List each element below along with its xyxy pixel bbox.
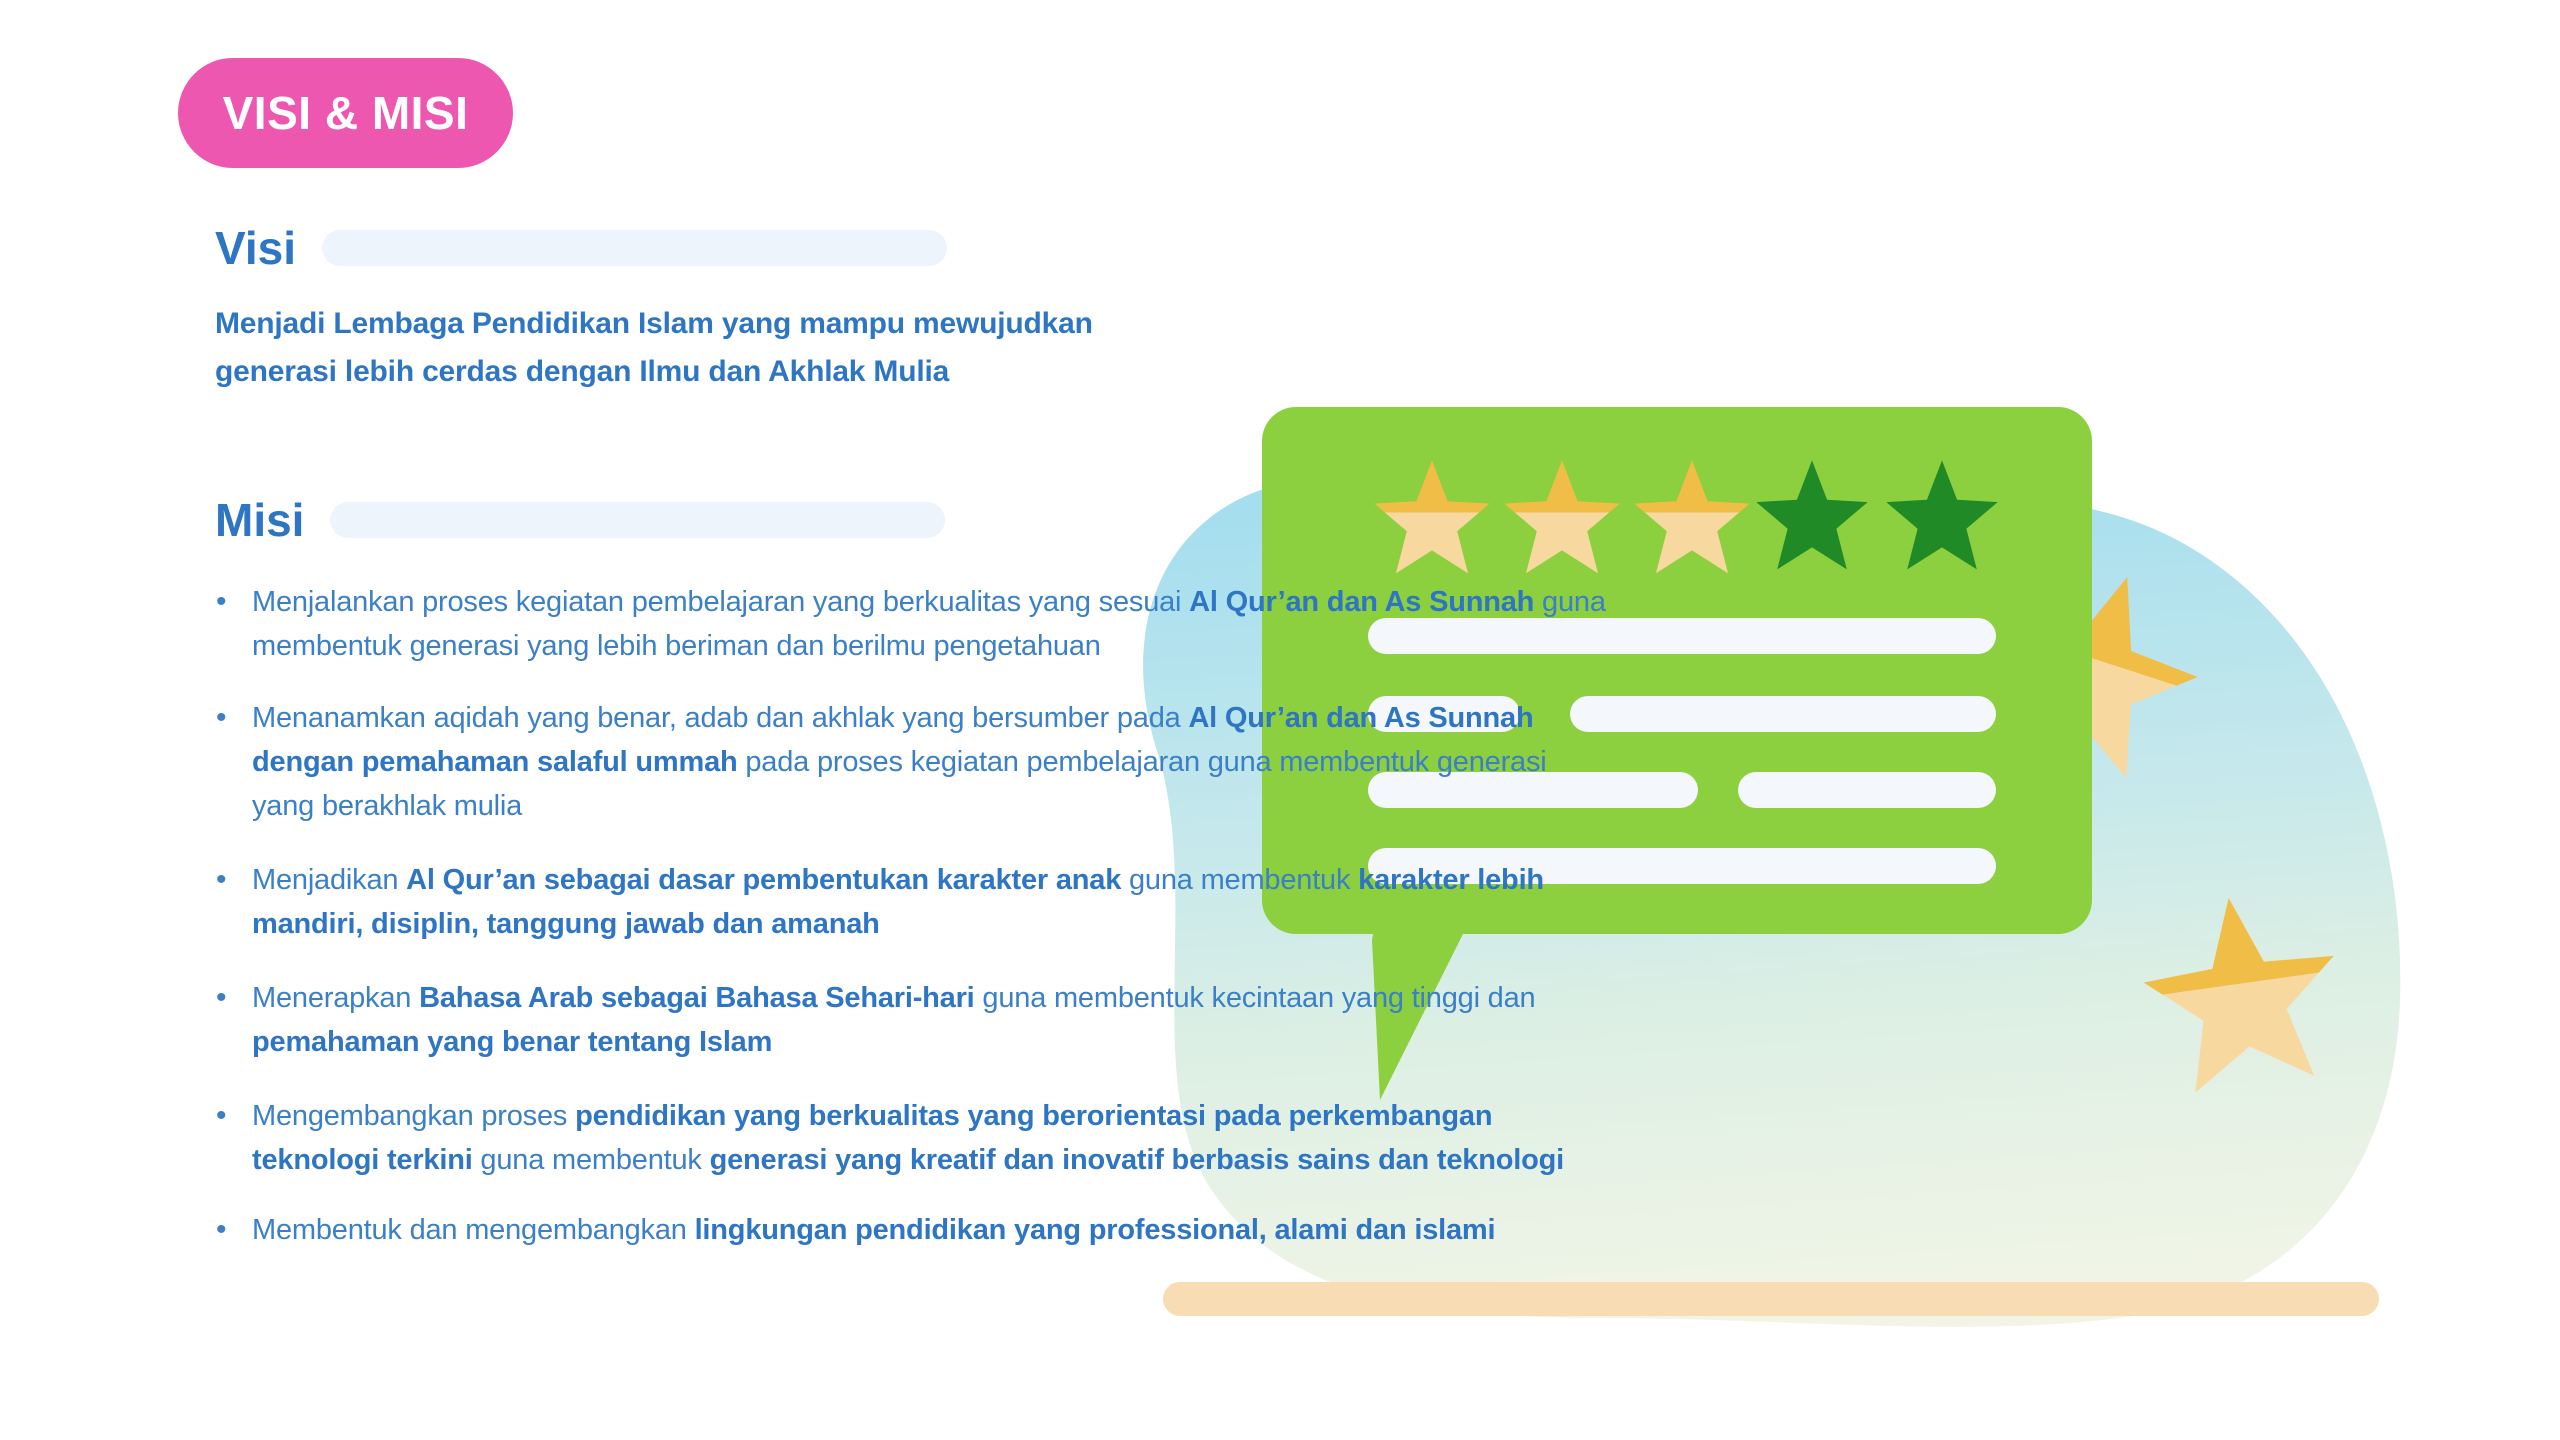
floating-star-1: [1975, 547, 2221, 790]
rating-star-1: [1374, 460, 1489, 573]
misi-emphasis-text: pemahaman yang benar tentang Islam: [252, 1026, 772, 1058]
misi-plain-text: guna membentuk kecintaan yang tinggi dan: [975, 982, 1536, 1014]
misi-plain-text: Mengembangkan proses: [252, 1100, 575, 1132]
visi-body-text: Menjadi Lembaga Pendidikan Islam yang ma…: [215, 300, 1115, 396]
misi-plain-text: guna membentuk: [1121, 864, 1358, 896]
visi-heading-bar: [322, 230, 947, 266]
misi-emphasis-text: Bahasa Arab sebagai Bahasa Sehari-hari: [419, 982, 974, 1014]
misi-list-item: •Menanamkan aqidah yang benar, adab dan …: [210, 696, 1610, 828]
bullet-icon: •: [216, 1208, 226, 1252]
misi-list: •Menjalankan proses kegiatan pembelajara…: [210, 580, 1610, 1252]
misi-heading-bar: [330, 502, 945, 538]
bullet-icon: •: [216, 1094, 226, 1138]
bullet-icon: •: [216, 858, 226, 902]
misi-emphasis-text: Al Qur’an sebagai dasar pembentukan kara…: [406, 864, 1121, 896]
misi-emphasis-text: generasi yang kreatif dan inovatif berba…: [710, 1144, 1564, 1176]
rating-star-2: [1504, 460, 1619, 573]
bullet-icon: •: [216, 976, 226, 1020]
section-heading-misi: Misi: [215, 497, 945, 543]
ground-bar: [1163, 1282, 2379, 1316]
misi-list-item: •Menjadikan Al Qur’an sebagai dasar pemb…: [210, 858, 1610, 946]
misi-list-item: •Menjalankan proses kegiatan pembelajara…: [210, 580, 1610, 668]
misi-emphasis-text: lingkungan pendidikan yang professional,…: [695, 1214, 1496, 1246]
misi-plain-text: Membentuk dan mengembangkan: [252, 1214, 695, 1246]
misi-plain-text: Menanamkan aqidah yang benar, adab dan a…: [252, 702, 1188, 734]
misi-list-item: •Mengembangkan proses pendidikan yang be…: [210, 1094, 1610, 1182]
misi-plain-text: Menerapkan: [252, 982, 419, 1014]
rating-star-5: [1886, 460, 1997, 569]
visi-misi-badge[interactable]: VISI & MISI: [178, 58, 513, 168]
rating-star-3: [1634, 460, 1749, 573]
bullet-icon: •: [216, 580, 226, 624]
rating-star-4: [1756, 460, 1867, 569]
misi-emphasis-text: Al Qur’an dan As Sunnah: [1189, 586, 1534, 618]
misi-plain-text: guna membentuk: [473, 1144, 710, 1176]
misi-plain-text: Menjadikan: [252, 864, 406, 896]
badge-label: VISI & MISI: [223, 86, 469, 140]
misi-heading-label: Misi: [215, 497, 304, 543]
section-heading-visi: Visi: [215, 225, 947, 271]
slide-canvas: VISI & MISI Visi Menjadi Lembaga Pendidi…: [0, 0, 2560, 1440]
bullet-icon: •: [216, 696, 226, 740]
visi-heading-label: Visi: [215, 225, 296, 271]
misi-list-item: •Menerapkan Bahasa Arab sebagai Bahasa S…: [210, 976, 1610, 1064]
floating-star-2: [2134, 885, 2350, 1098]
misi-plain-text: Menjalankan proses kegiatan pembelajaran…: [252, 586, 1189, 618]
misi-list-item: •Membentuk dan mengembangkan lingkungan …: [210, 1208, 1610, 1252]
